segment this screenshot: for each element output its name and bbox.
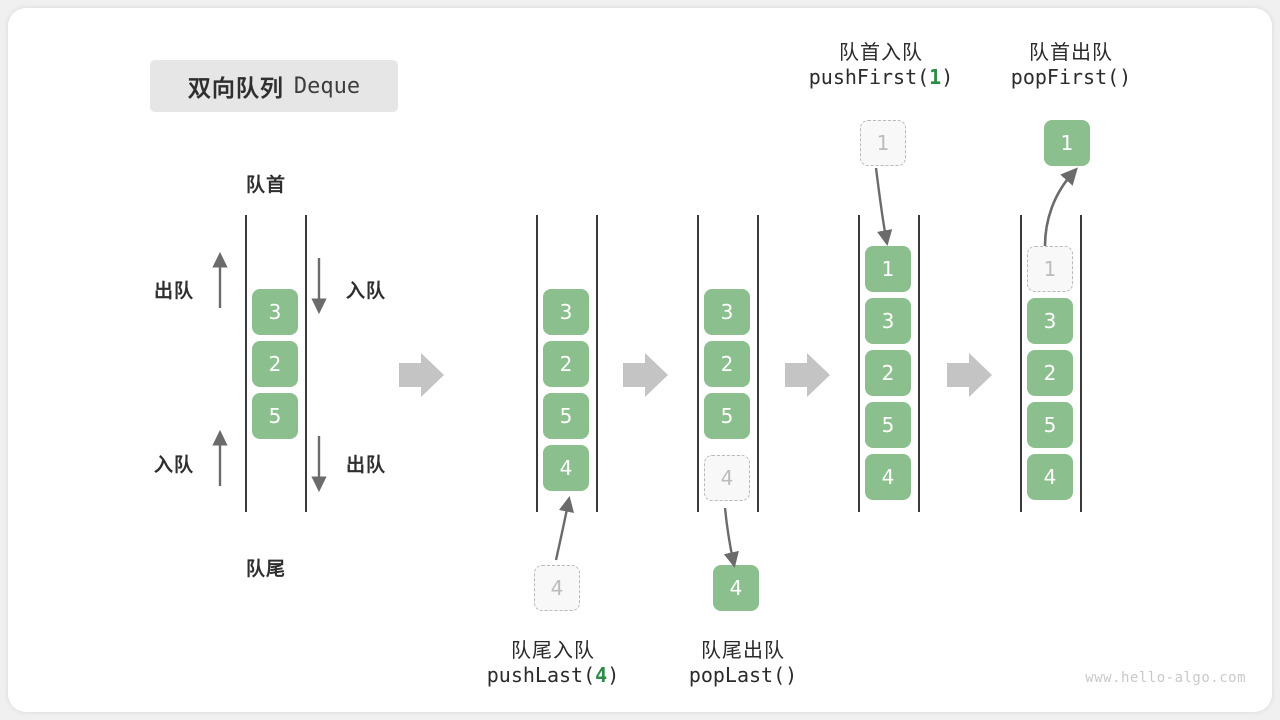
- caption-push-first: 队首入队 pushFirst(1): [790, 36, 972, 89]
- block-arrow-3: [785, 353, 830, 397]
- caption-push-first-code: pushFirst(1): [790, 65, 972, 89]
- block-arrow-4: [947, 353, 992, 397]
- arrow-pop-first: [1045, 174, 1072, 246]
- title-cn: 双向队列: [188, 69, 284, 103]
- cell-col1-2: 5: [252, 393, 298, 439]
- arrow-pop-last: [725, 508, 733, 560]
- cell-col5-2: 2: [1027, 350, 1073, 396]
- cell-col5-1: 3: [1027, 298, 1073, 344]
- caption-pop-last: 队尾出队 popLast(): [648, 634, 838, 687]
- external-cell-col3: 4: [713, 565, 759, 611]
- caption-pop-first-code: popFirst(): [980, 65, 1162, 89]
- rail-right-col3: [757, 215, 759, 512]
- diagram-canvas: 双向队列 Deque 队首 队尾 出队 入队 入队 出队 队尾入队 pushLa…: [8, 8, 1272, 712]
- cell-col4-1: 3: [865, 298, 911, 344]
- caption-push-first-cn: 队首入队: [790, 36, 972, 65]
- cell-col3-1: 2: [704, 341, 750, 387]
- cell-col5-3: 5: [1027, 402, 1073, 448]
- caption-pop-first-cn: 队首出队: [980, 36, 1162, 65]
- cell-col2-0: 3: [543, 289, 589, 335]
- rail-left-col4: [858, 215, 860, 512]
- caption-pop-last-cn: 队尾出队: [648, 634, 838, 663]
- rail-right-col4: [918, 215, 920, 512]
- label-rear: 队尾: [246, 554, 286, 581]
- label-front: 队首: [246, 170, 286, 197]
- external-cell-col2: 4: [534, 565, 580, 611]
- rail-right-col1: [305, 215, 307, 512]
- caption-push-last-code: pushLast(4): [463, 663, 643, 687]
- caption-pop-first: 队首出队 popFirst(): [980, 36, 1162, 89]
- label-rear-dequeue: 出队: [346, 450, 386, 477]
- cell-col4-0: 1: [865, 246, 911, 292]
- cell-col3-0: 3: [704, 289, 750, 335]
- cell-col1-1: 2: [252, 341, 298, 387]
- label-front-dequeue: 出队: [154, 276, 194, 303]
- caption-push-last-cn: 队尾入队: [463, 634, 643, 663]
- rail-left-col1: [245, 215, 247, 512]
- arrow-push-last: [556, 504, 568, 560]
- cell-col1-0: 3: [252, 289, 298, 335]
- label-front-enqueue: 入队: [346, 276, 386, 303]
- rail-left-col2: [536, 215, 538, 512]
- cell-col5-4: 4: [1027, 454, 1073, 500]
- block-arrow-1: [399, 353, 444, 397]
- watermark: www.hello-algo.com: [1085, 670, 1246, 686]
- cell-col4-2: 2: [865, 350, 911, 396]
- rail-left-col5: [1020, 215, 1022, 512]
- external-cell-col4: 1: [860, 120, 906, 166]
- rail-right-col5: [1080, 215, 1082, 512]
- external-cell-col5: 1: [1044, 120, 1090, 166]
- rail-left-col3: [697, 215, 699, 512]
- cell-col4-4: 4: [865, 454, 911, 500]
- title-badge: 双向队列 Deque: [150, 60, 398, 112]
- cell-col2-2: 5: [543, 393, 589, 439]
- block-arrow-2: [623, 353, 668, 397]
- arrow-overlay: [8, 8, 1272, 712]
- cell-col5-0: 1: [1027, 246, 1073, 292]
- cell-col2-1: 2: [543, 341, 589, 387]
- cell-col4-3: 5: [865, 402, 911, 448]
- cell-col3-2: 5: [704, 393, 750, 439]
- cell-col2-3: 4: [543, 445, 589, 491]
- title-en: Deque: [294, 74, 360, 99]
- cell-col3-3: 4: [704, 455, 750, 501]
- arrow-push-first: [876, 168, 886, 238]
- caption-push-last: 队尾入队 pushLast(4): [463, 634, 643, 687]
- caption-pop-last-code: popLast(): [648, 663, 838, 687]
- label-rear-enqueue: 入队: [154, 450, 194, 477]
- rail-right-col2: [596, 215, 598, 512]
